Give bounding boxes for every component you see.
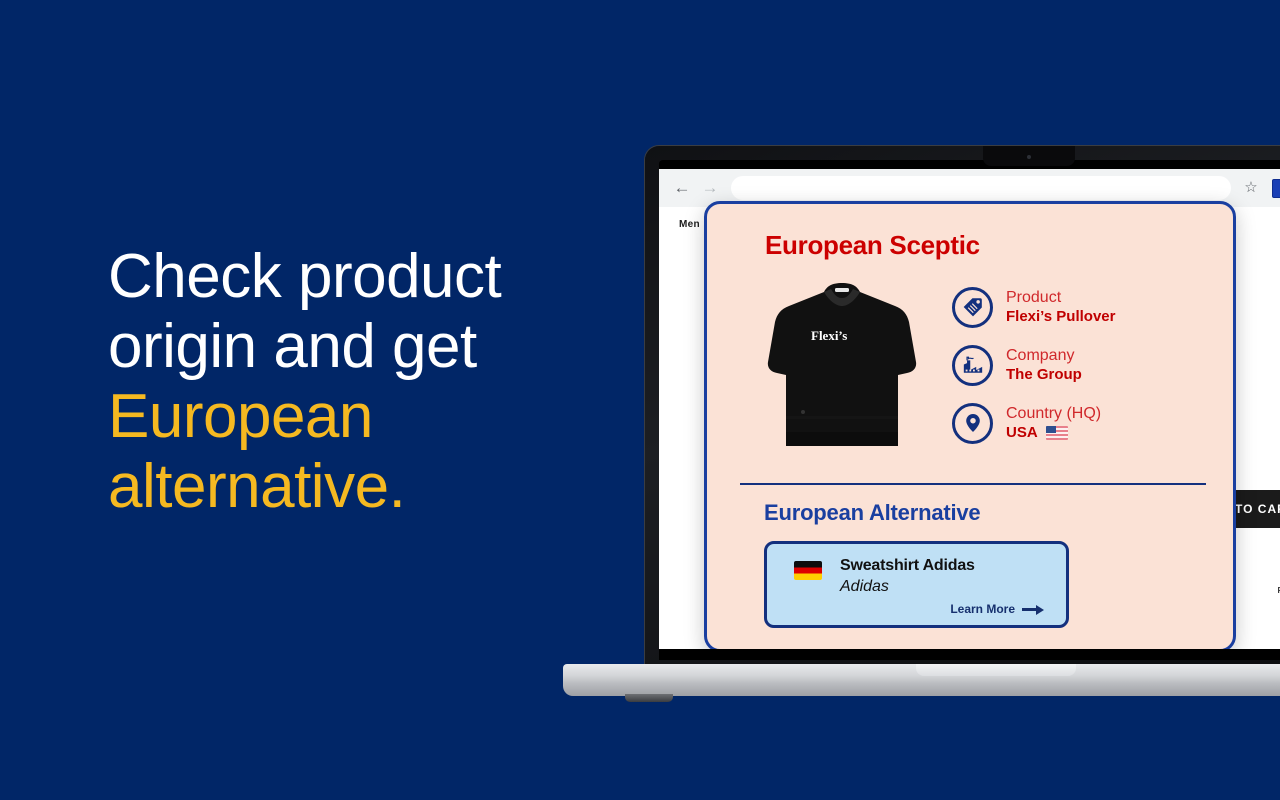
alternative-brand-name: Adidas — [840, 578, 889, 596]
extension-icon[interactable] — [1272, 179, 1280, 198]
germany-flag-icon — [794, 561, 822, 580]
info-label-company: Company — [1006, 347, 1082, 365]
laptop-screen: ← → ☆ Men TO CART » FREE SHI OVER $ — [659, 169, 1280, 649]
headline-period: . — [389, 452, 406, 521]
laptop-camera-notch — [983, 146, 1075, 166]
location-pin-icon — [952, 403, 993, 444]
page-headline: Check product origin and get European al… — [108, 242, 628, 522]
bookmark-star-icon[interactable]: ☆ — [1240, 177, 1262, 199]
alternative-product-name: Sweatshirt Adidas — [840, 557, 975, 575]
address-bar[interactable] — [731, 176, 1231, 200]
headline-line-4-text: alternative — [108, 452, 389, 521]
svg-text:Flexi’s: Flexi’s — [811, 328, 847, 343]
forward-icon[interactable]: → — [701, 179, 719, 197]
info-row-country: Country (HQ) USA — [952, 400, 1212, 446]
product-info-list: Product Flexi’s Pullover — [952, 284, 1212, 458]
info-value-company: The Group — [1006, 367, 1082, 384]
info-text-product: Product Flexi’s Pullover — [1006, 289, 1116, 326]
info-label-country: Country (HQ) — [1006, 405, 1101, 423]
laptop-lid: ← → ☆ Men TO CART » FREE SHI OVER $ — [645, 146, 1280, 666]
extension-popup: European Sceptic Flexi’s — [704, 201, 1236, 649]
popup-title: European Sceptic — [765, 230, 980, 261]
back-icon[interactable]: ← — [673, 179, 691, 197]
info-label-product: Product — [1006, 289, 1116, 307]
laptop-mockup: ← → ☆ Men TO CART » FREE SHI OVER $ — [645, 146, 1280, 706]
promo-screenshot: Check product origin and get European al… — [0, 0, 1280, 800]
free-shipping-note: FREE SHI OVER $ — [1253, 585, 1280, 607]
laptop-base — [563, 664, 1280, 696]
free-shipping-line-2: OVER $ — [1253, 596, 1280, 607]
headline-line-3: European — [108, 382, 628, 452]
free-shipping-line-1: FREE SHI — [1253, 585, 1280, 596]
learn-more-link[interactable]: Learn More — [950, 602, 1044, 616]
country-name-value: USA — [1006, 425, 1038, 442]
info-text-country: Country (HQ) USA — [1006, 405, 1101, 442]
alternative-product-card[interactable]: Sweatshirt Adidas Adidas Learn More — [764, 541, 1069, 628]
section-divider — [740, 483, 1206, 485]
info-text-company: Company The Group — [1006, 347, 1082, 384]
company-name-value: The Group — [1006, 367, 1082, 384]
headline-line-4: alternative. — [108, 452, 628, 522]
info-row-company: Company The Group — [952, 342, 1212, 388]
product-image: Flexi’s — [767, 276, 917, 454]
price-tag-icon — [952, 287, 993, 328]
usa-flag-icon — [1046, 426, 1068, 440]
factory-icon — [952, 345, 993, 386]
camera-icon — [1027, 155, 1031, 159]
arrow-right-icon — [1022, 604, 1044, 614]
headline-line-1: Check product — [108, 242, 628, 312]
info-value-product: Flexi’s Pullover — [1006, 309, 1116, 326]
learn-more-label: Learn More — [950, 602, 1015, 616]
laptop-base-lip — [916, 664, 1076, 676]
sweatshirt-illustration: Flexi’s — [767, 276, 917, 454]
alternative-section-title: European Alternative — [764, 500, 980, 526]
headline-line-2: origin and get — [108, 312, 628, 382]
laptop-foot — [625, 694, 673, 702]
nav-item-men[interactable]: Men — [679, 219, 700, 230]
info-row-product: Product Flexi’s Pullover — [952, 284, 1212, 330]
product-name-value: Flexi’s Pullover — [1006, 309, 1116, 326]
info-value-country: USA — [1006, 425, 1101, 442]
